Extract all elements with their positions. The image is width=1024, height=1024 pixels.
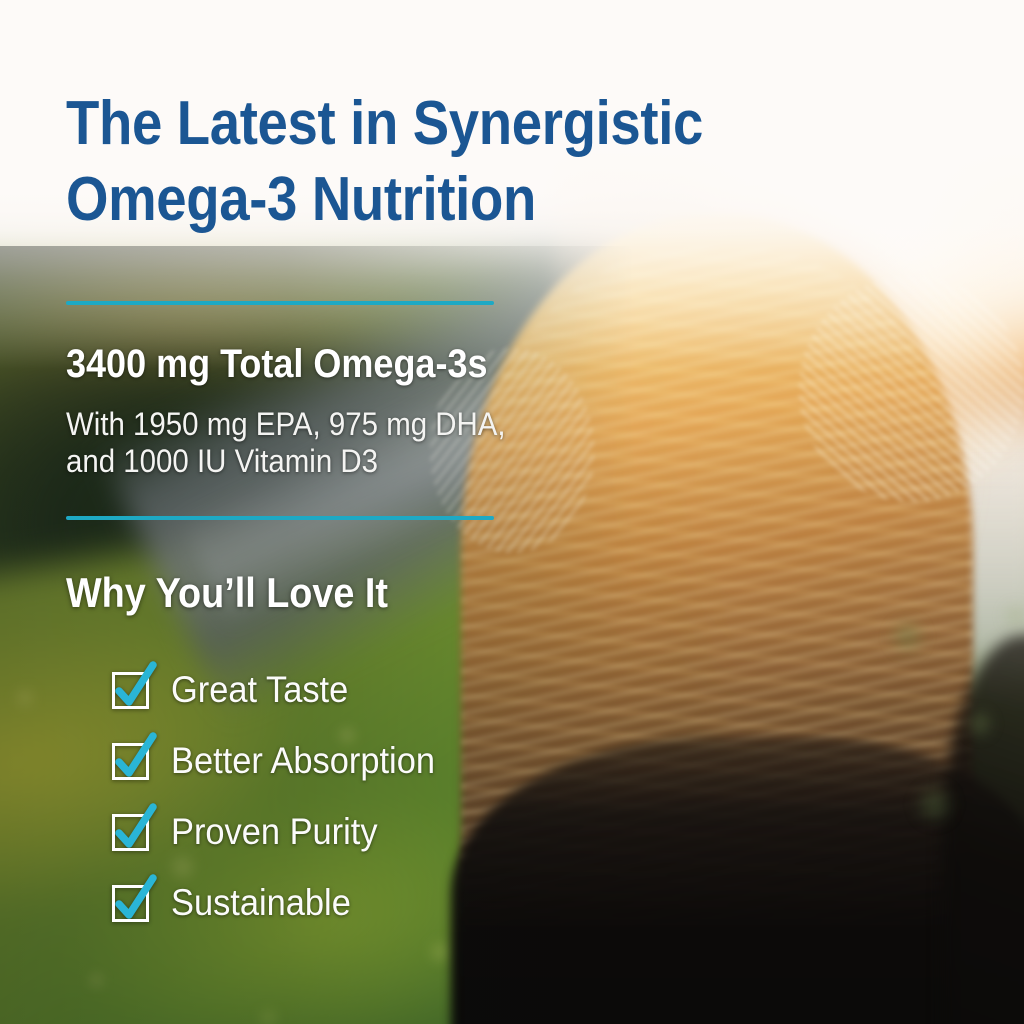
benefits-heading: Why You’ll Love It [66,568,388,618]
breakdown-line-2: and 1000 IU Vitamin D3 [66,443,544,480]
omega3-breakdown: With 1950 mg EPA, 975 mg DHA, and 1000 I… [66,406,544,480]
headline-line-2: Omega-3 Nutrition [66,162,664,238]
headline-line-1: The Latest in Synergistic [66,86,664,162]
benefit-label: Great Taste [171,670,348,710]
list-item: Proven Purity [112,806,455,858]
benefit-label: Better Absorption [171,741,435,781]
breakdown-line-1: With 1950 mg EPA, 975 mg DHA, [66,406,544,443]
benefit-label: Sustainable [171,883,351,923]
content-layer: The Latest in Synergistic Omega-3 Nutrit… [0,0,1024,1024]
checkbox-checked-icon [112,743,149,780]
list-item: Sustainable [112,877,455,929]
divider-bottom [66,516,494,520]
benefit-label: Proven Purity [171,812,378,852]
page-title: The Latest in Synergistic Omega-3 Nutrit… [66,86,664,238]
checkbox-checked-icon [112,814,149,851]
divider-top [66,301,494,305]
checkbox-checked-icon [112,885,149,922]
total-omega3-stat: 3400 mg Total Omega-3s [66,341,487,387]
product-infographic: The Latest in Synergistic Omega-3 Nutrit… [0,0,1024,1024]
list-item: Better Absorption [112,735,455,787]
checkbox-checked-icon [112,672,149,709]
benefits-list: Great Taste Better Absorption Proven Pur… [112,664,455,948]
list-item: Great Taste [112,664,455,716]
